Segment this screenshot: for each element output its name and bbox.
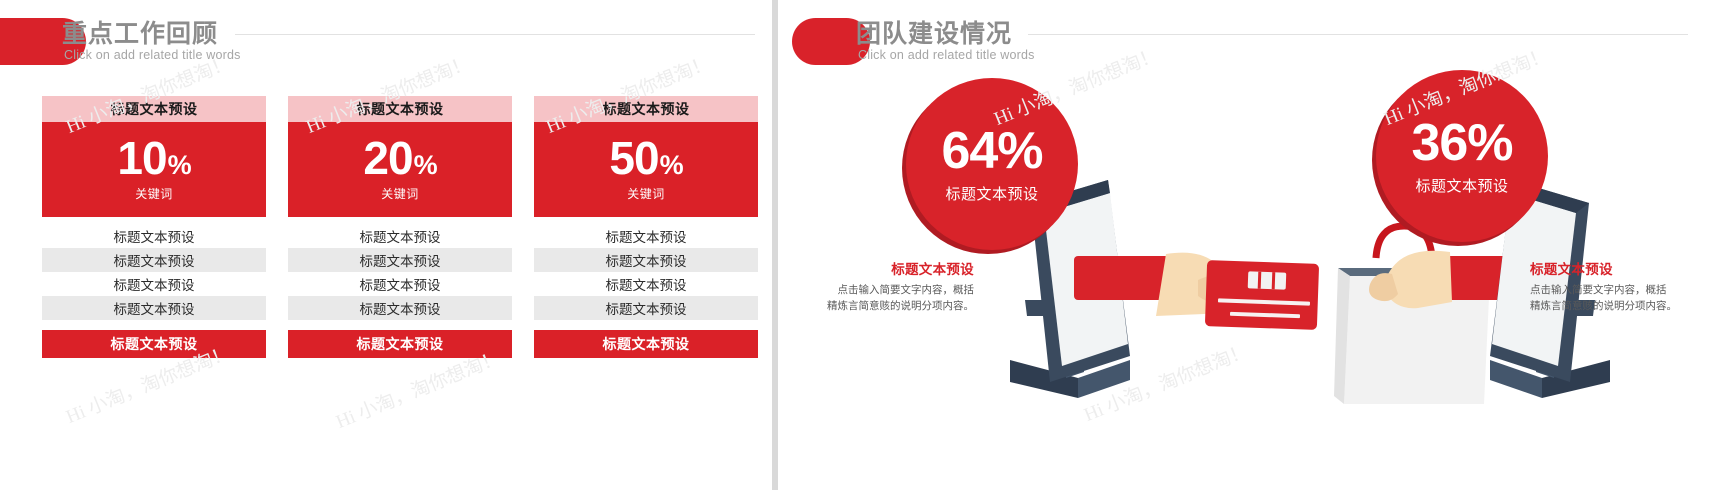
slide-left: 重点工作回顾 Click on add related title words …	[0, 0, 772, 490]
table-row[interactable]: 标题文本预设	[42, 248, 266, 272]
table-row[interactable]: 标题文本预设	[288, 296, 512, 320]
slide-right: 团队建设情况 Click on add related title words	[778, 0, 1720, 490]
stat-circle-caption-2: 标题文本预设	[1415, 175, 1508, 196]
blurb-line-1b: 精炼言简意赅的说明分项内容。	[806, 298, 974, 314]
metrics-columns: 标题文本预设 10% 关键词 标题文本预设 标题文本预设 标题文本预设 标题文本…	[42, 96, 758, 358]
table-row[interactable]: 标题文本预设	[42, 272, 266, 296]
stat-percent-sign-1: %	[168, 153, 191, 179]
stat-percent-sign-3: %	[660, 153, 683, 179]
stat-blurb-1: 标题文本预设 点击输入简要文字内容，概括 精炼言简意赅的说明分项内容。	[806, 258, 974, 315]
stat-number-2: 20	[363, 137, 412, 181]
table-row[interactable]: 标题文本预设	[42, 296, 266, 320]
blurb-title-2: 标题文本预设	[1530, 258, 1698, 278]
metric-column-2[interactable]: 标题文本预设 20% 关键词 标题文本预设 标题文本预设 标题文本预设 标题文本…	[288, 96, 512, 358]
slide-deck: 重点工作回顾 Click on add related title words …	[0, 0, 1720, 490]
metric-column-3[interactable]: 标题文本预设 50% 关键词 标题文本预设 标题文本预设 标题文本预设 标题文本…	[534, 96, 758, 358]
stat-circle-value-2: 36%	[1411, 117, 1512, 169]
stat-value-2: 20%	[363, 137, 436, 181]
watermark: Hi 小淘，淘你想淘！	[1079, 336, 1252, 427]
stat-blurb-2: 标题文本预设 点击输入简要文字内容，概括 精炼言简意赅的说明分项内容。	[1530, 258, 1698, 315]
table-row[interactable]: 标题文本预设	[534, 248, 758, 272]
hand-with-card-icon	[1074, 253, 1319, 330]
stat-keyword-3: 关键词	[627, 185, 665, 202]
blurb-line-2b: 精炼言简意赅的说明分项内容。	[1530, 298, 1698, 314]
table-row[interactable]: 标题文本预设	[42, 224, 266, 248]
stat-number-3: 50	[609, 137, 658, 181]
column-footer-button-3[interactable]: 标题文本预设	[534, 330, 758, 358]
blurb-line-1a: 点击输入简要文字内容，概括	[806, 282, 974, 298]
stat-value-1: 10%	[117, 137, 190, 181]
column-rows-1: 标题文本预设 标题文本预设 标题文本预设 标题文本预设	[42, 224, 266, 320]
table-row[interactable]: 标题文本预设	[534, 272, 758, 296]
stat-circle-value-1: 64%	[941, 125, 1042, 177]
left-header-rule	[235, 34, 755, 35]
stat-value-3: 50%	[609, 137, 682, 181]
table-row[interactable]: 标题文本预设	[288, 224, 512, 248]
stat-percent-sign-2: %	[414, 153, 437, 179]
table-row[interactable]: 标题文本预设	[288, 248, 512, 272]
right-page-subtitle: Click on add related title words	[858, 48, 1035, 62]
left-page-title: 重点工作回顾	[62, 14, 218, 50]
table-row[interactable]: 标题文本预设	[534, 296, 758, 320]
ecommerce-illustration	[778, 0, 1720, 490]
column-footer-button-1[interactable]: 标题文本预设	[42, 330, 266, 358]
column-rows-3: 标题文本预设 标题文本预设 标题文本预设 标题文本预设	[534, 224, 758, 320]
shopping-bag-icon	[1334, 226, 1490, 404]
stat-number-1: 10	[117, 137, 166, 181]
blurb-line-2a: 点击输入简要文字内容，概括	[1530, 282, 1698, 298]
hand-holding-bag-icon	[1369, 251, 1542, 309]
stat-keyword-1: 关键词	[135, 185, 173, 202]
right-header-rule	[1028, 34, 1688, 35]
table-row[interactable]: 标题文本预设	[534, 224, 758, 248]
table-row[interactable]: 标题文本预设	[288, 272, 512, 296]
column-stat-3: 50% 关键词	[534, 122, 758, 217]
right-page-title: 团队建设情况	[856, 14, 1012, 50]
credit-card-icon	[1205, 260, 1319, 330]
column-stat-2: 20% 关键词	[288, 122, 512, 217]
stat-keyword-2: 关键词	[381, 185, 419, 202]
blurb-title-1: 标题文本预设	[806, 258, 974, 278]
column-rows-2: 标题文本预设 标题文本预设 标题文本预设 标题文本预设	[288, 224, 512, 320]
stat-circle-caption-1: 标题文本预设	[945, 183, 1038, 204]
